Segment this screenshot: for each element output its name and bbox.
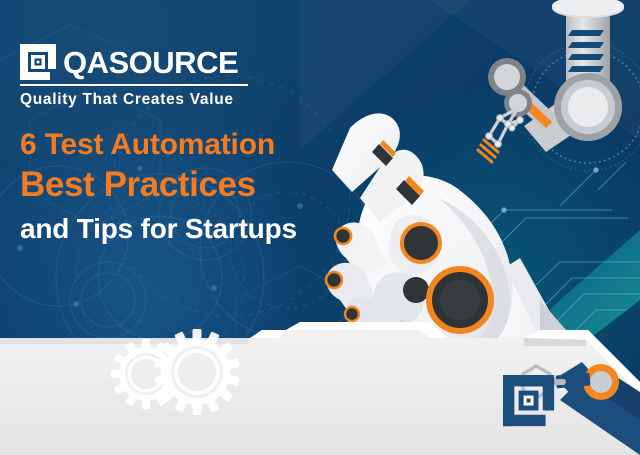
- logo-tagline: Quality That Creates Value: [20, 91, 270, 109]
- qasource-square-spiral-icon: [20, 44, 56, 80]
- headline-line-2: Best Practices: [20, 165, 380, 206]
- brand-logo: QASOURCE Quality That Creates Value: [20, 44, 270, 109]
- headline-block: 6 Test Automation Best Practices and Tip…: [20, 128, 380, 246]
- headline-line-1: 6 Test Automation: [20, 128, 380, 163]
- qasource-banner: QASOURCE Quality That Creates Value 6 Te…: [0, 0, 640, 455]
- logo-wordmark: QASOURCE: [63, 47, 238, 78]
- logo-divider: [20, 84, 248, 86]
- headline-line-3: and Tips for Startups: [20, 213, 380, 245]
